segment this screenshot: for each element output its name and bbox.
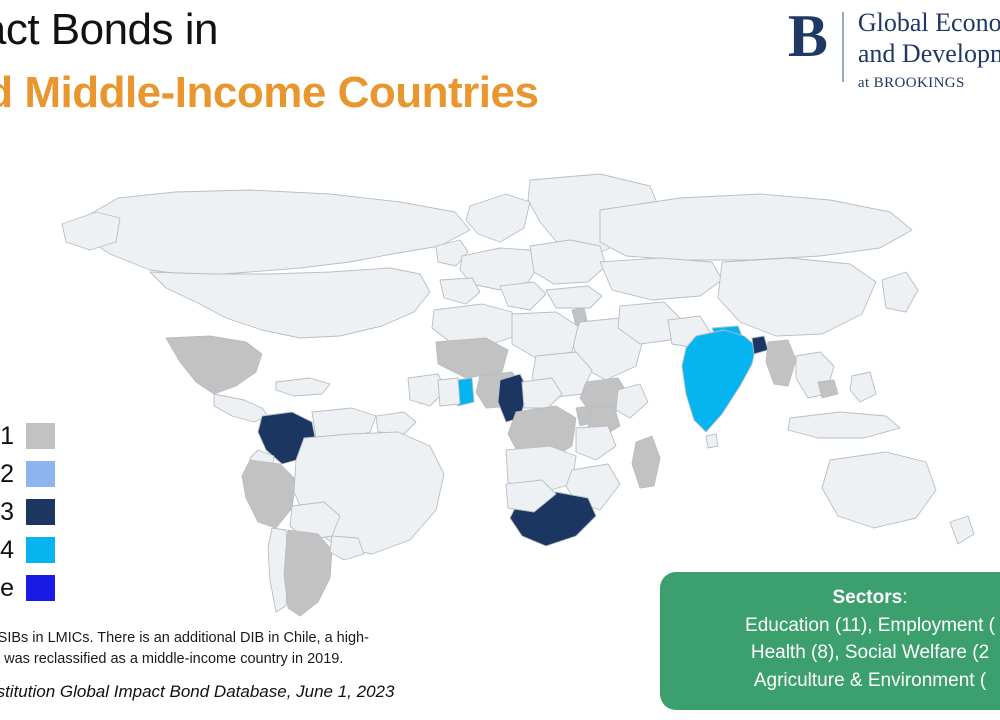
country-ivory-coast	[438, 378, 460, 406]
country-usa	[150, 268, 430, 338]
logo-wordmark: Global Economy and Development at BROOKI…	[858, 8, 1000, 92]
country-cambodia	[818, 380, 838, 398]
legend-item-label: 2	[0, 460, 26, 489]
brookings-b-mark: B	[788, 8, 842, 65]
country-mongolia-china	[718, 258, 876, 336]
country-new-zealand	[950, 516, 974, 544]
legend-item: 2	[0, 456, 55, 492]
logo-line-2: and Development	[858, 39, 1000, 70]
country-philippines	[850, 372, 876, 402]
source-line: kings Institution Global Impact Bond Dat…	[0, 682, 394, 702]
legend-swatch-4	[26, 537, 55, 563]
legend-item: 4	[0, 532, 55, 568]
sectors-callout: Sectors: Education (11), Employment ( He…	[660, 572, 1000, 710]
legend-swatch-2	[26, 461, 55, 487]
legend-item-label: 3	[0, 498, 26, 527]
country-myanmar	[766, 340, 796, 386]
legend-swatch-1	[26, 423, 55, 449]
sectors-line-3: Agriculture & Environment (	[678, 667, 1000, 695]
country-canada	[80, 190, 470, 276]
sectors-heading-bold: Sectors	[833, 587, 903, 608]
sectors-line-1: Education (11), Employment (	[678, 612, 1000, 640]
country-eastern-europe	[530, 240, 606, 284]
legend-item-label: 1	[0, 422, 26, 451]
country-australia	[822, 452, 936, 528]
map-base-layer	[62, 174, 974, 616]
footnote-block: s and 15 SIBs in LMICs. There is an addi…	[0, 628, 558, 669]
country-somalia	[616, 384, 648, 418]
country-mexico	[166, 336, 262, 394]
slide-root: Impact Bonds in - and Middle-Income Coun…	[0, 0, 1000, 720]
title-line-primary: Impact Bonds in	[0, 6, 810, 54]
sectors-line-2: Health (8), Social Welfare (2	[678, 639, 1000, 667]
logo-line-3: at BROOKINGS	[858, 75, 1000, 92]
country-iberia	[440, 278, 480, 304]
country-paraguay-uruguay	[330, 536, 364, 560]
sectors-heading-colon: :	[902, 587, 907, 608]
legend-item: 3	[0, 494, 55, 530]
world-map	[0, 150, 1000, 620]
title-line-secondary: - and Middle-Income Countries	[0, 68, 810, 117]
map-legend: 1 2 3 4 re	[0, 418, 55, 608]
country-sri-lanka	[706, 434, 718, 448]
country-madagascar	[632, 436, 660, 488]
legend-swatch-5	[26, 575, 55, 601]
footnote-line-2: Argentina was reclassified as a middle-i…	[0, 649, 558, 670]
sectors-heading: Sectors:	[678, 584, 1000, 612]
country-mali-niger	[436, 338, 508, 378]
country-caribbean	[276, 378, 330, 396]
country-central-america	[214, 394, 268, 422]
country-italy-balkans	[500, 282, 546, 310]
country-argentina	[284, 530, 332, 616]
legend-item: re	[0, 570, 55, 606]
legend-swatch-3	[26, 499, 55, 525]
country-turkey	[546, 286, 602, 308]
country-scandinavia	[466, 194, 530, 242]
country-korea-japan	[882, 272, 918, 312]
country-bangladesh	[752, 336, 768, 354]
page-title: Impact Bonds in - and Middle-Income Coun…	[0, 6, 810, 117]
country-indonesia	[788, 412, 900, 438]
legend-item-label: 4	[0, 536, 26, 565]
country-peru	[242, 460, 296, 528]
country-india	[682, 330, 756, 432]
world-map-svg	[0, 150, 1000, 620]
country-guianas	[376, 412, 416, 434]
country-central-asia	[600, 258, 722, 300]
country-libya-egypt	[512, 312, 578, 358]
legend-item-label: re	[0, 574, 26, 603]
logo-line-1: Global Economy	[858, 8, 1000, 39]
logo-divider	[842, 12, 844, 82]
country-russia	[600, 194, 912, 260]
brookings-logo: B Global Economy and Development at BROO…	[788, 8, 1000, 92]
country-tanzania	[576, 426, 616, 460]
footnote-line-1: s and 15 SIBs in LMICs. There is an addi…	[0, 628, 558, 649]
legend-item: 1	[0, 418, 55, 454]
